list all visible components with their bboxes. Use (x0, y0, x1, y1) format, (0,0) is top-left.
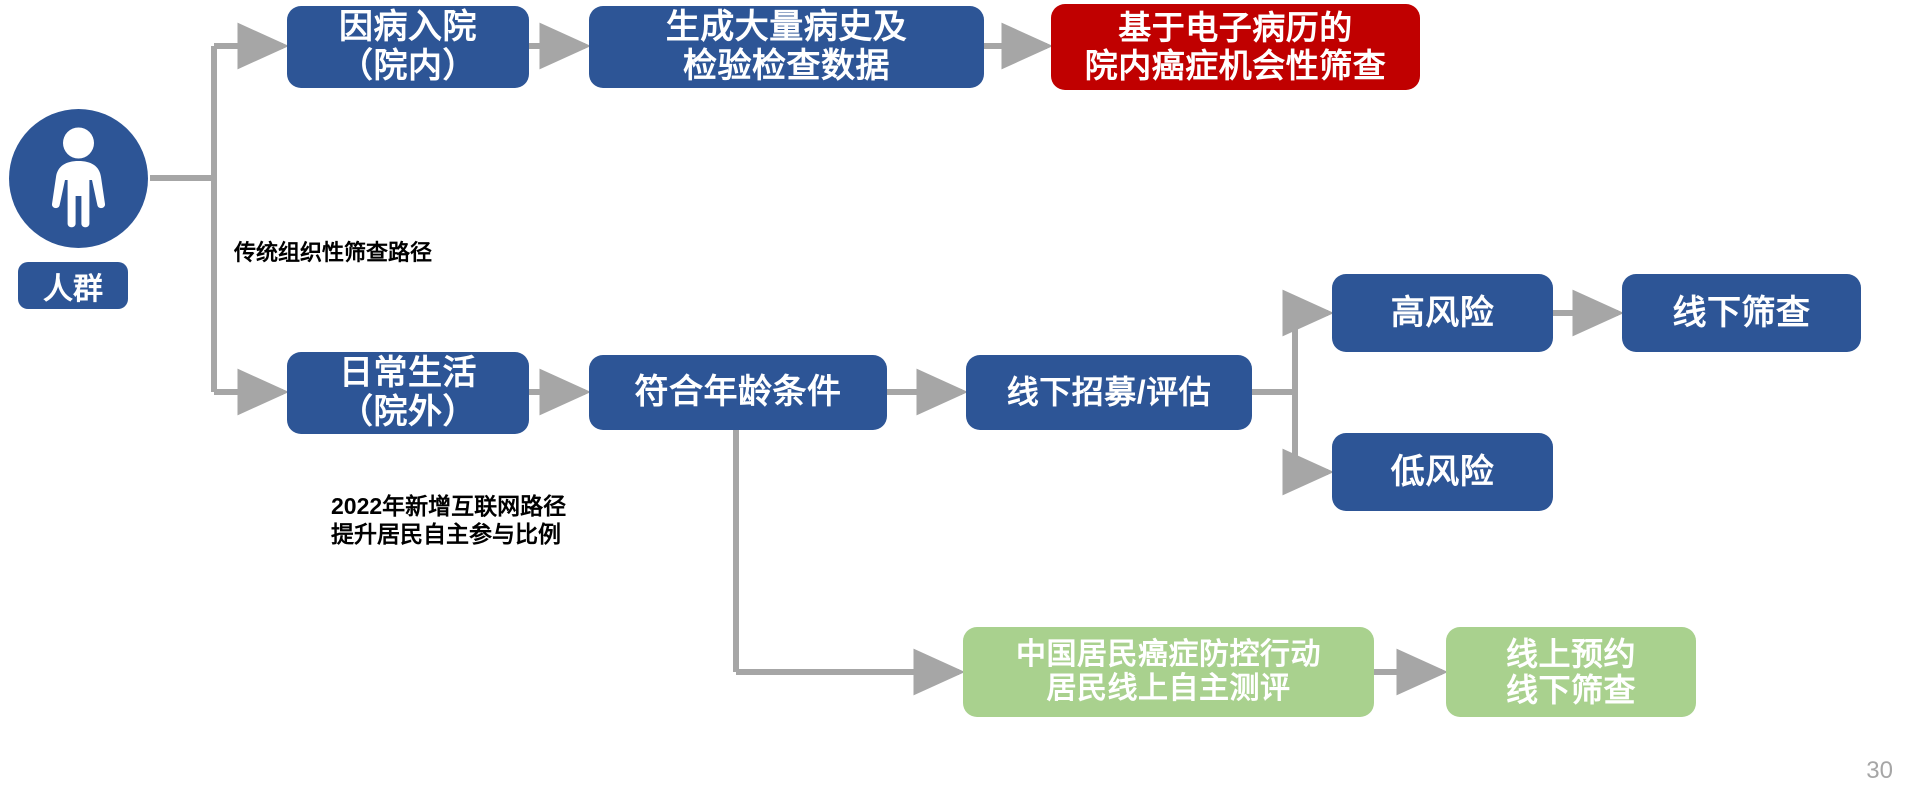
node-age-eligible[interactable]: 符合年龄条件 (589, 355, 887, 430)
slide-canvas: 人群 传统组织性筛查路径 2022年新增互联网路径 提升居民自主参与比例 因病入… (0, 0, 1915, 799)
node-generate-data[interactable]: 生成大量病史及 检验检查数据 (589, 6, 984, 88)
node-high-risk[interactable]: 高风险 (1332, 274, 1553, 352)
people-label-text: 人群 (43, 264, 103, 308)
node-online-self-assessment[interactable]: 中国居民癌症防控行动 居民线上自主测评 (963, 627, 1374, 717)
node-emr-opportunistic-screening[interactable]: 基于电子病历的 院内癌症机会性筛查 (1051, 4, 1420, 90)
node-online-booking-offline-screening[interactable]: 线上预约 线下筛查 (1446, 627, 1696, 717)
node-offline-recruit-assess[interactable]: 线下招募/评估 (966, 355, 1252, 430)
label-traditional-path: 传统组织性筛查路径 (234, 240, 432, 267)
node-daily-life[interactable]: 日常生活 （院外） (287, 352, 529, 434)
person-icon (9, 109, 148, 248)
person-avatar (9, 109, 148, 248)
node-low-risk[interactable]: 低风险 (1332, 433, 1553, 511)
node-hospital-admission[interactable]: 因病入院 （院内） (287, 6, 529, 88)
label-internet-path: 2022年新增互联网路径 提升居民自主参与比例 (331, 492, 566, 548)
page-number: 30 (1866, 757, 1893, 785)
people-label-chip: 人群 (18, 262, 128, 309)
node-offline-screening[interactable]: 线下筛查 (1622, 274, 1861, 352)
